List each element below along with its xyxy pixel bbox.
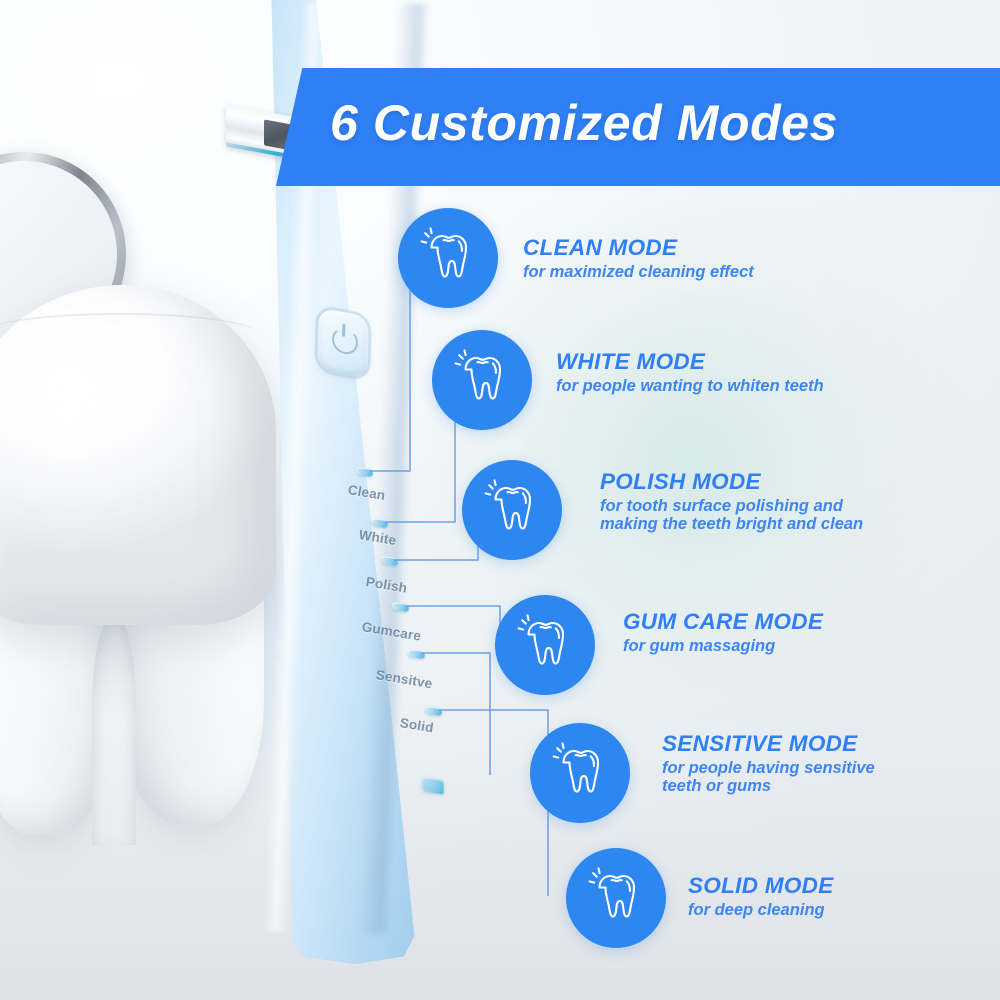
tooth-sparkle-icon — [583, 865, 649, 931]
mode-text-polish: POLISH MODE for tooth surface polishing … — [600, 470, 863, 533]
mode-icon-polish[interactable] — [462, 460, 562, 560]
mode-desc-gumcare: for gum massaging — [623, 638, 823, 656]
mode-icon-sensitive[interactable] — [530, 723, 630, 823]
mode-desc-polish: for tooth surface polishing and making t… — [600, 498, 863, 534]
page-title: 6 Customized Modes — [330, 94, 1000, 152]
mode-desc-solid: for deep cleaning — [688, 902, 834, 920]
tooth-root-gap — [92, 615, 136, 845]
tooth-sparkle-icon — [547, 740, 613, 806]
mode-text-white: WHITE MODE for people wanting to whiten … — [556, 350, 824, 396]
mode-title-solid: SOLID MODE — [688, 874, 834, 899]
mode-title-gumcare: GUM CARE MODE — [623, 610, 823, 635]
tooth-sparkle-icon — [449, 347, 515, 413]
mode-icon-white[interactable] — [432, 330, 532, 430]
mode-text-sensitive: SENSITIVE MODE for people having sensiti… — [662, 732, 875, 795]
mode-icon-clean[interactable] — [398, 208, 498, 308]
product-infographic: Clean White Polish Gumcare Sensitve Soli… — [0, 0, 1000, 1000]
mode-title-clean: CLEAN MODE — [523, 236, 754, 261]
mode-desc-white: for people wanting to whiten teeth — [556, 378, 824, 396]
mode-title-white: WHITE MODE — [556, 350, 824, 375]
mode-text-gumcare: GUM CARE MODE for gum massaging — [623, 610, 823, 656]
mode-title-sensitive: SENSITIVE MODE — [662, 732, 875, 757]
mode-title-polish: POLISH MODE — [600, 470, 863, 495]
mode-desc-sensitive: for people having sensitive teeth or gum… — [662, 760, 875, 796]
mode-icon-solid[interactable] — [566, 848, 666, 948]
tooth-sparkle-icon — [512, 612, 578, 678]
mode-text-clean: CLEAN MODE for maximized cleaning effect — [523, 236, 754, 282]
mode-icon-gumcare[interactable] — [495, 595, 595, 695]
tooth-sparkle-icon — [479, 477, 545, 543]
mode-desc-clean: for maximized cleaning effect — [523, 264, 754, 282]
tooth-sparkle-icon — [415, 225, 481, 291]
charge-indicator-icon — [422, 776, 444, 794]
mode-text-solid: SOLID MODE for deep cleaning — [688, 874, 834, 920]
